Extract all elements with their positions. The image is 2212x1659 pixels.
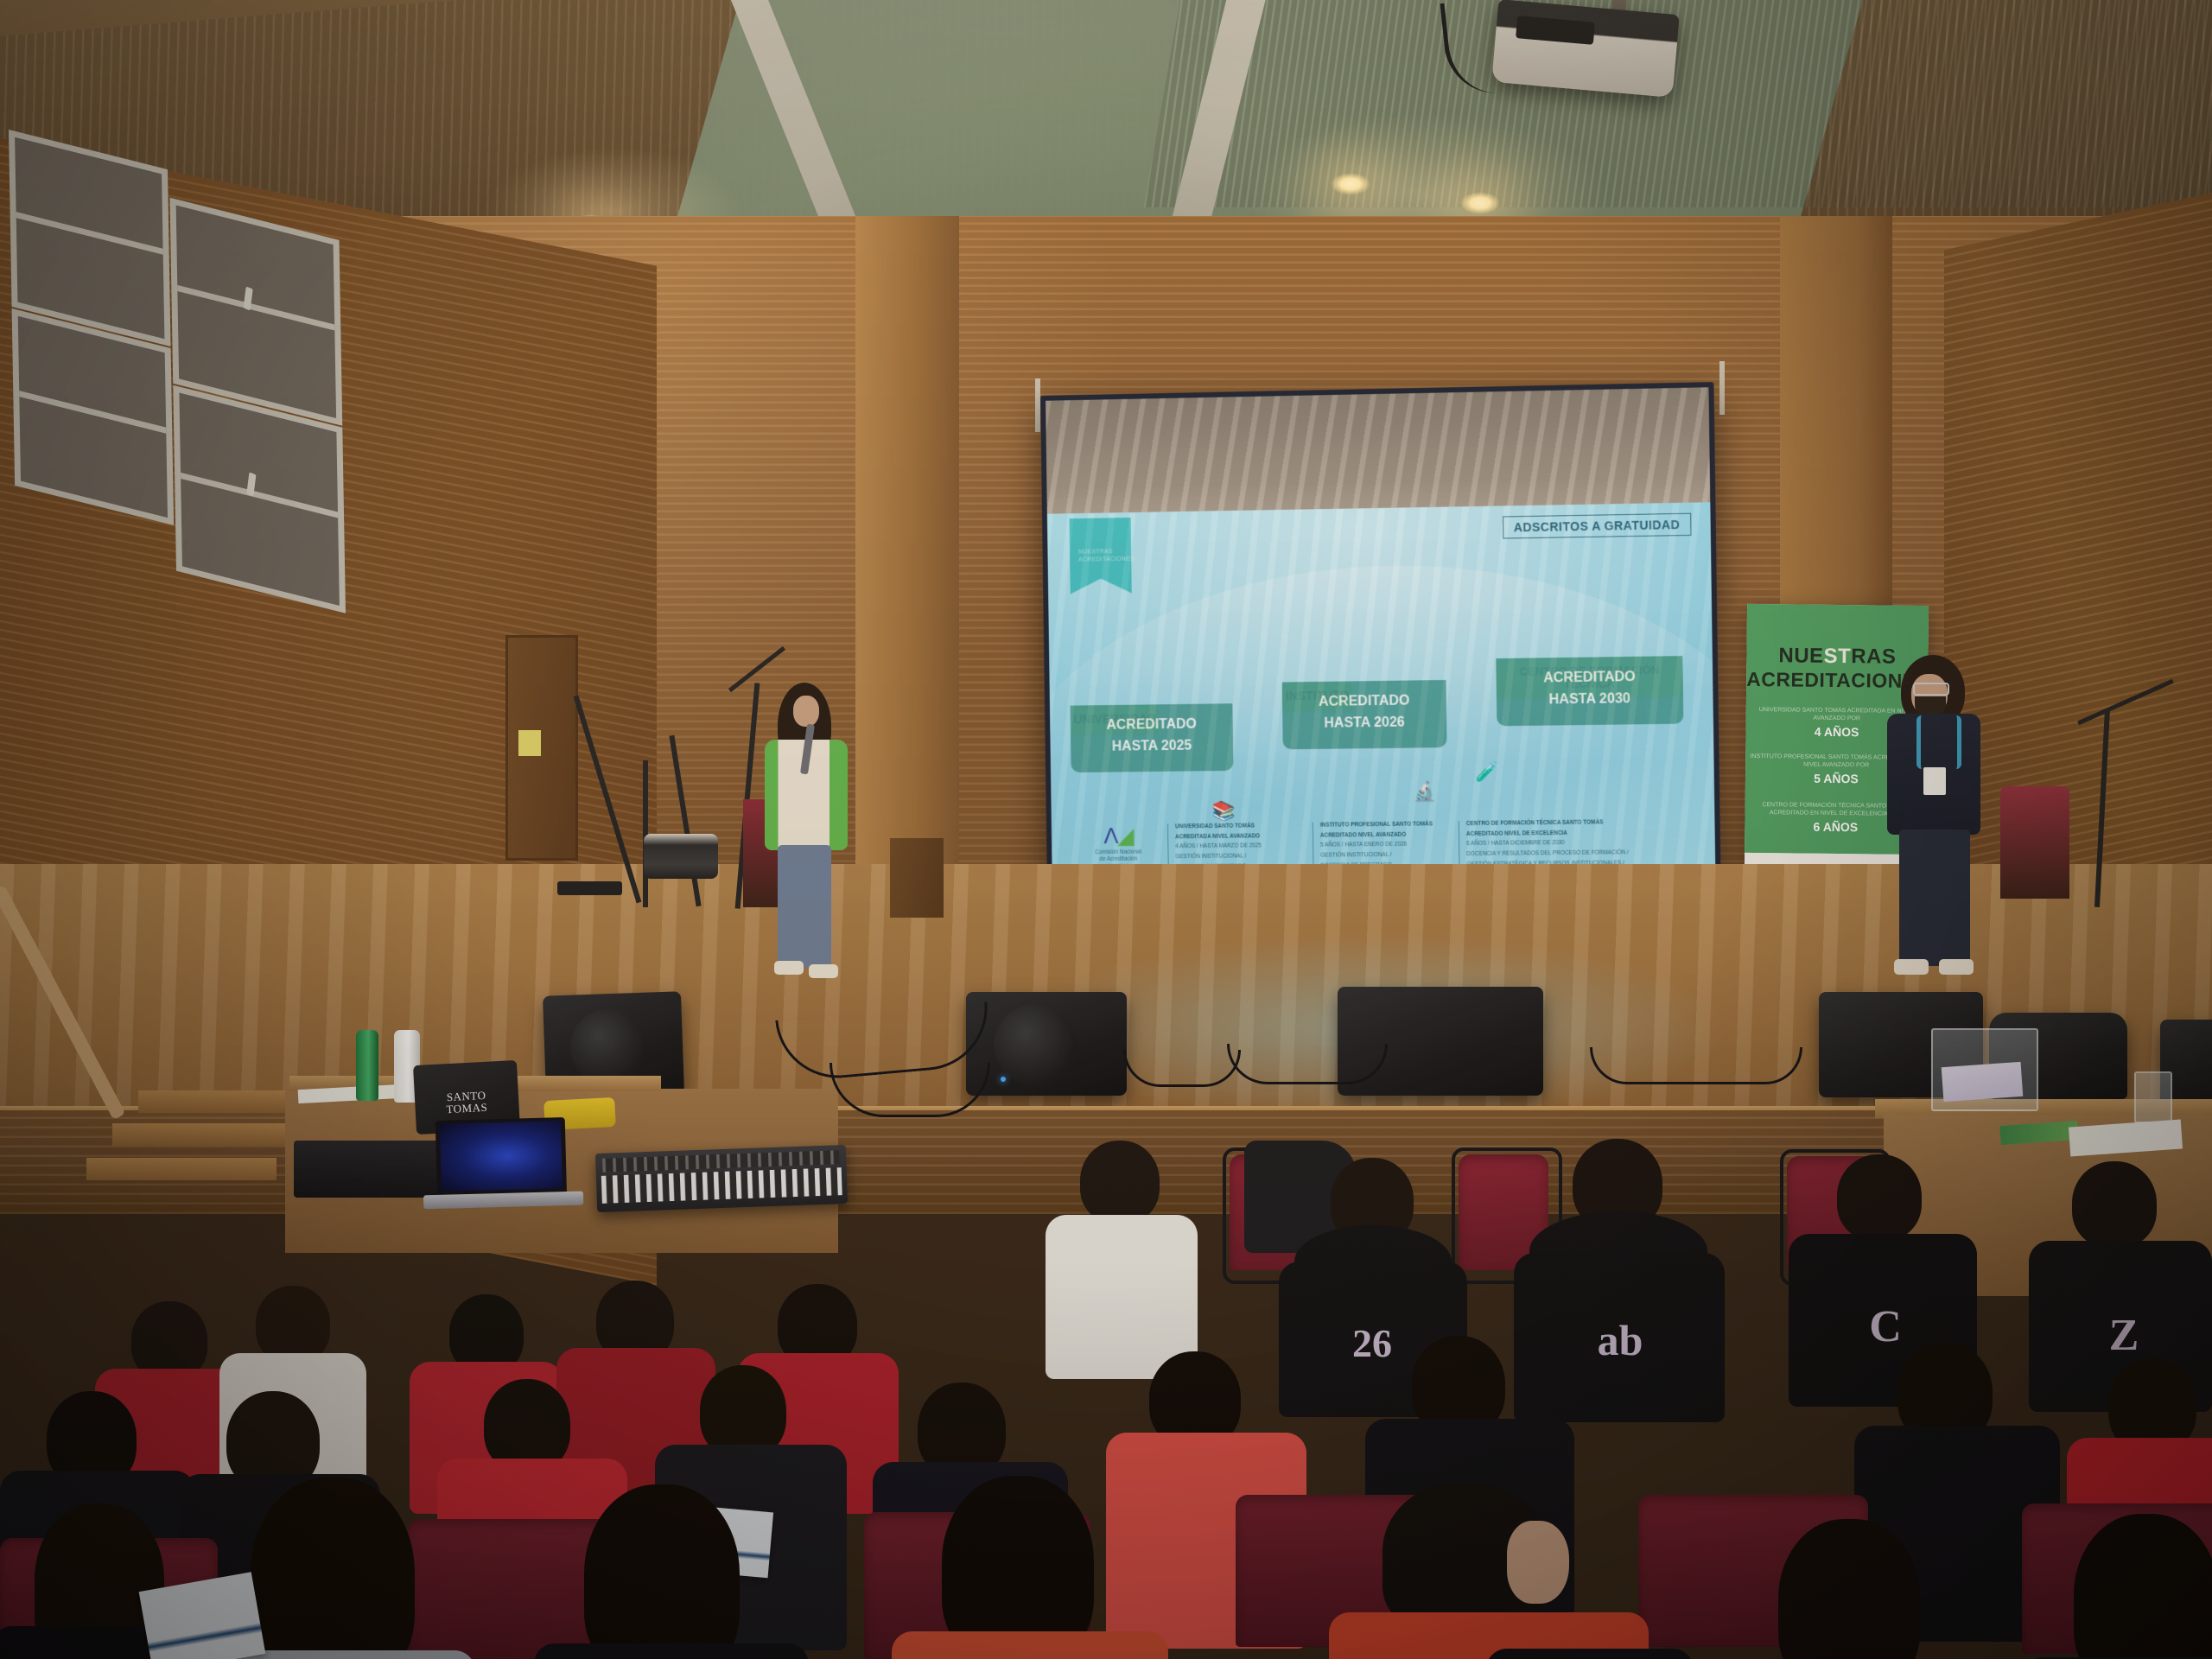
card-universidad-body: ACREDITADO HASTA 2025 bbox=[1071, 703, 1234, 772]
side-door[interactable] bbox=[505, 635, 578, 861]
stacked-chairs-right bbox=[2000, 786, 2069, 899]
projection-screen: NUESTRAS ACREDITACIONES ADSCRITOS A GRAT… bbox=[1040, 382, 1721, 931]
head-back-7 bbox=[256, 1286, 330, 1363]
head-front-7 bbox=[2074, 1514, 2212, 1659]
card-instituto-head: INSTITUTO bbox=[1282, 681, 1353, 711]
hoodie-glyph-back-3: ab bbox=[1531, 1315, 1709, 1365]
card-cft-body: ACREDITADO HASTA 2030 bbox=[1496, 656, 1683, 726]
card-instituto: INSTITUTO ACREDITADO HASTA 2026 bbox=[1282, 680, 1447, 749]
slide-ribbon-badge bbox=[1070, 518, 1132, 594]
audience-area: 26 ab C Z bbox=[0, 1132, 2212, 1659]
presenter-left-jeans bbox=[778, 845, 831, 968]
presenter-right-shoe-r bbox=[1939, 959, 1974, 975]
card-cft-line2: HASTA 2030 bbox=[1502, 688, 1678, 712]
stage-monitor-1-cone bbox=[570, 1009, 646, 1085]
flask-icon: 🧪 bbox=[1475, 760, 1499, 783]
books-icon: 📚 bbox=[1211, 800, 1236, 823]
id-badge bbox=[1923, 767, 1946, 795]
microscope-icon: 🔬 bbox=[1413, 780, 1437, 803]
gratuidad-badge: ADSCRITOS A GRATUIDAD bbox=[1503, 513, 1692, 539]
floor-cable-2 bbox=[1227, 1044, 1388, 1084]
presenter-right-beard bbox=[1915, 696, 1946, 715]
stage-monitor-3 bbox=[1338, 987, 1543, 1096]
floor-cable-1 bbox=[1123, 1050, 1241, 1087]
card-universidad: UNIVERSIDAD ACREDITADO HASTA 2025 bbox=[1071, 703, 1234, 772]
head-back-4 bbox=[1837, 1154, 1922, 1241]
card-cft-head: CENTRO DE FORMACIÓN TÉCNICA bbox=[1496, 656, 1683, 699]
door-sign bbox=[518, 730, 541, 756]
card-instituto-body: ACREDITADO HASTA 2026 bbox=[1282, 680, 1447, 749]
face-front-5 bbox=[1507, 1521, 1569, 1604]
drinking-glass bbox=[2134, 1071, 2172, 1123]
monitor-led-1 bbox=[1001, 1077, 1006, 1082]
card-instituto-line2: HASTA 2026 bbox=[1287, 712, 1441, 735]
screen-hanger-right bbox=[1719, 361, 1725, 415]
green-water-bottle bbox=[356, 1030, 378, 1101]
presentation-slide: NUESTRAS ACREDITACIONES ADSCRITOS A GRAT… bbox=[1047, 502, 1716, 926]
ceiling-projector bbox=[1491, 0, 1680, 98]
snare-drum bbox=[644, 834, 718, 879]
card-universidad-line1: ACREDITADO bbox=[1076, 714, 1228, 737]
card-cft-line1: ACREDITADO bbox=[1502, 666, 1678, 690]
presenter-left-shoe-l bbox=[774, 961, 804, 975]
tote-bag-text: SANTO TOMAS bbox=[424, 1089, 508, 1116]
head-back-5 bbox=[2072, 1161, 2157, 1248]
head-front-2 bbox=[251, 1478, 415, 1659]
presenter-right-pants bbox=[1899, 829, 1970, 966]
torso-front-4 bbox=[892, 1631, 1168, 1659]
wall-column-left bbox=[855, 216, 959, 873]
banner-title-line1: NUESTRAS bbox=[1746, 644, 1928, 670]
auditorium-photo: NUESTRAS ACREDITACIONES ADSCRITOS A GRAT… bbox=[0, 0, 2212, 1659]
wooden-crate bbox=[890, 838, 944, 918]
presenter-left-face bbox=[793, 696, 819, 727]
card-universidad-line2: HASTA 2025 bbox=[1076, 735, 1228, 759]
presenter-right-shoe-l bbox=[1894, 959, 1929, 975]
cna-logo-icon: Λ◢ bbox=[1077, 824, 1159, 848]
torso-front-3 bbox=[534, 1643, 809, 1659]
hoodie-glyph-back-5: Z bbox=[2046, 1310, 2202, 1361]
slide-ribbon-text: NUESTRAS ACREDITACIONES bbox=[1078, 549, 1126, 564]
stage-monitor-2-cone bbox=[994, 1004, 1077, 1087]
head-back-1 bbox=[1080, 1141, 1160, 1224]
card-cft: CENTRO DE FORMACIÓN TÉCNICA ACREDITADO H… bbox=[1496, 656, 1683, 726]
glasses-icon bbox=[1913, 683, 1949, 696]
head-front-3 bbox=[584, 1484, 740, 1659]
torso-front-5b bbox=[1486, 1649, 1694, 1659]
presenter-left-shoe-r bbox=[809, 964, 838, 978]
lanyard bbox=[1916, 715, 1961, 769]
floor-cable-4 bbox=[1590, 1047, 1802, 1084]
screen-blank-cloth bbox=[1046, 387, 1710, 520]
keyboard-bench bbox=[557, 881, 622, 895]
screen-hanger-left bbox=[1035, 378, 1040, 432]
accreditation-cards: UNIVERSIDAD ACREDITADO HASTA 2025 INSTIT… bbox=[1070, 656, 1699, 836]
card-instituto-line1: ACREDITADO bbox=[1287, 690, 1441, 714]
raffle-box-papers bbox=[1942, 1062, 2024, 1102]
card-universidad-head: UNIVERSIDAD bbox=[1071, 704, 1160, 734]
head-front-6 bbox=[1778, 1519, 1920, 1659]
